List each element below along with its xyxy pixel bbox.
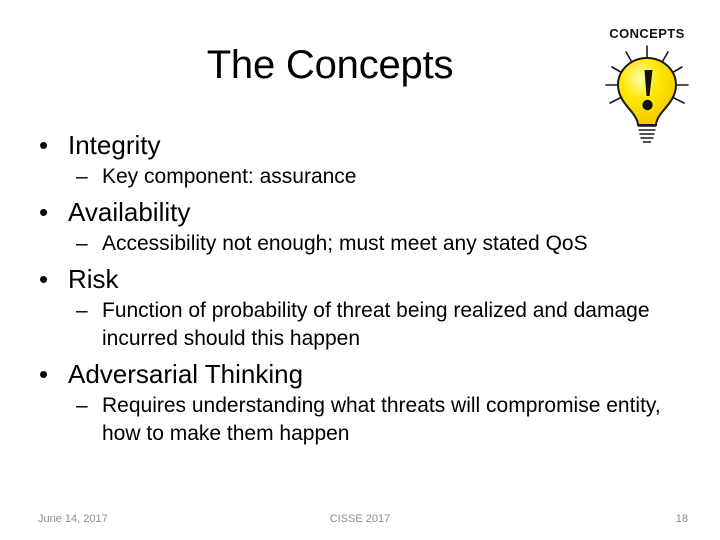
bullet-marker: • <box>39 262 48 296</box>
dash-marker: – <box>76 392 88 420</box>
bullet-marker: • <box>39 357 48 391</box>
list-item-label: Adversarial Thinking <box>68 359 303 389</box>
list-item-label: Availability <box>68 197 190 227</box>
bullet-list: • Integrity – Key component: assurance •… <box>32 128 692 448</box>
list-item-label: Risk <box>68 264 119 294</box>
sub-list-item-label: Function of probability of threat being … <box>102 297 692 353</box>
footer-conference: CISSE 2017 <box>0 512 720 526</box>
page-title: The Concepts <box>60 42 600 88</box>
sub-list-item: – Accessibility not enough; must meet an… <box>68 230 692 258</box>
sub-list-item: – Function of probability of threat bein… <box>68 297 692 353</box>
lightbulb-concepts-icon: CONCEPTS <box>588 22 706 144</box>
sub-list-item: – Requires understanding what threats wi… <box>68 392 692 448</box>
graphic-caption: CONCEPTS <box>609 26 684 41</box>
exclamation-dot-icon <box>642 100 652 110</box>
sub-list-item: – Key component: assurance <box>68 163 692 191</box>
list-item-label: Integrity <box>68 130 161 160</box>
bullet-marker: • <box>39 128 48 162</box>
footer-page-number: 18 <box>676 512 688 526</box>
dash-marker: – <box>76 230 88 258</box>
list-item: • Integrity <box>32 128 692 162</box>
sub-list-item-label: Key component: assurance <box>102 163 692 191</box>
list-item: • Adversarial Thinking <box>32 357 692 391</box>
dash-marker: – <box>76 297 88 325</box>
bullet-marker: • <box>39 195 48 229</box>
list-item: • Availability <box>32 195 692 229</box>
slide-canvas: The Concepts <box>0 0 720 540</box>
sub-list-item-label: Requires understanding what threats will… <box>102 392 692 448</box>
list-item: • Risk <box>32 262 692 296</box>
dash-marker: – <box>76 163 88 191</box>
sub-list-item-label: Accessibility not enough; must meet any … <box>102 230 692 258</box>
